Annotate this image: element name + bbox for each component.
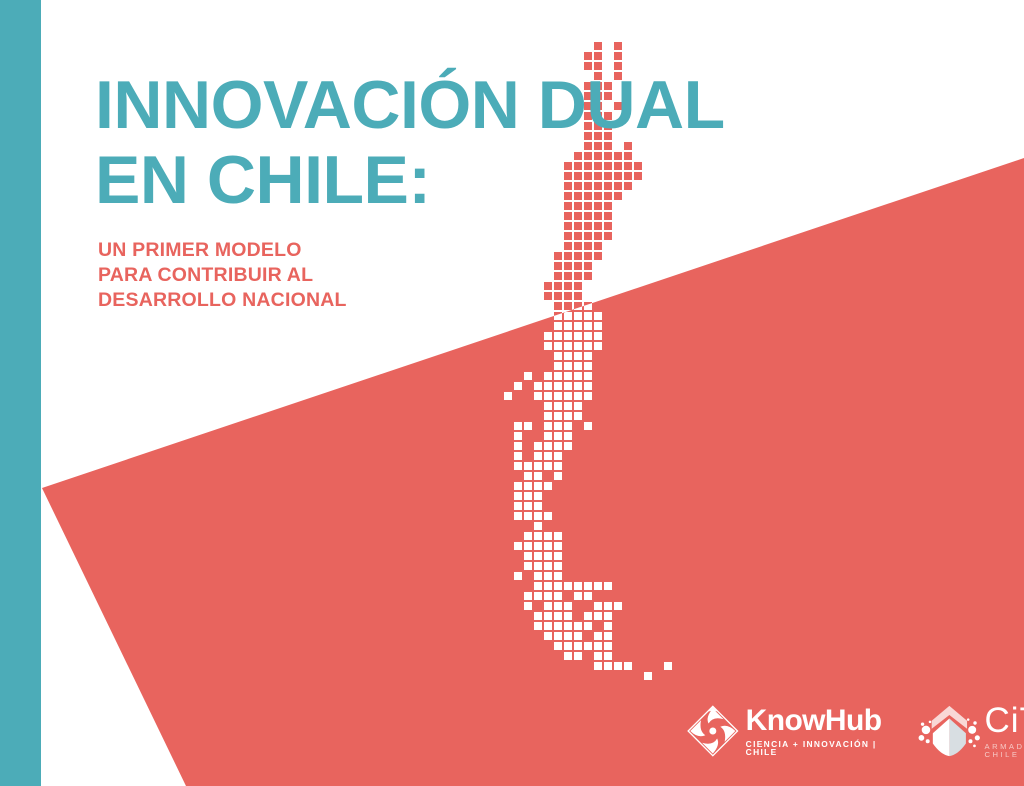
title-line-1: INNOVACIÓN DUAL bbox=[95, 72, 875, 139]
knowhub-diamond-icon bbox=[686, 700, 740, 762]
subtitle-line-3: DESARROLLO NACIONAL bbox=[98, 288, 518, 313]
cover-page: INNOVACIÓN DUAL EN CHILE: UN PRIMER MODE… bbox=[0, 0, 1024, 786]
logo-knowhub: KnowHub CIENCIA + INNOVACIÓN | CHILE bbox=[686, 700, 890, 762]
subtitle-line-1: UN PRIMER MODELO bbox=[98, 238, 518, 263]
page-title: INNOVACIÓN DUAL EN CHILE: bbox=[95, 72, 875, 213]
title-line-2: EN CHILE: bbox=[95, 147, 875, 214]
cita-ship-prow-icon bbox=[918, 698, 981, 764]
cita-tagline: ARMADA DE CHILE bbox=[985, 743, 1024, 758]
knowhub-name: KnowHub bbox=[746, 706, 890, 736]
page-subtitle: UN PRIMER MODELO PARA CONTRIBUIR AL DESA… bbox=[98, 238, 518, 313]
logo-cita: CiTA ARMADA DE CHILE bbox=[918, 698, 1024, 764]
cita-wordmark: CiTA ARMADA DE CHILE bbox=[985, 703, 1024, 758]
knowhub-wordmark: KnowHub CIENCIA + INNOVACIÓN | CHILE bbox=[746, 706, 890, 757]
subtitle-line-2: PARA CONTRIBUIR AL bbox=[98, 263, 518, 288]
cita-name: CiTA bbox=[985, 703, 1024, 738]
logo-row: KnowHub CIENCIA + INNOVACIÓN | CHILE bbox=[686, 692, 1024, 770]
knowhub-tagline: CIENCIA + INNOVACIÓN | CHILE bbox=[746, 740, 890, 757]
